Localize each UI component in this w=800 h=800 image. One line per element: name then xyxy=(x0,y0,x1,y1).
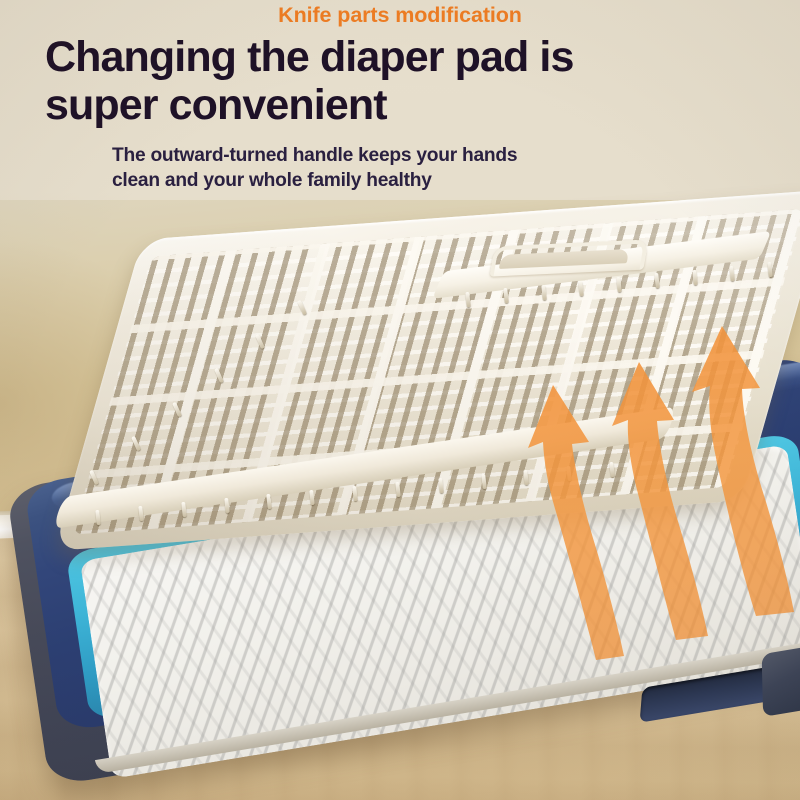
headline-line-1: Changing the diaper pad is xyxy=(45,33,573,81)
page-title: Changing the diaper pad issuper convenie… xyxy=(0,27,745,129)
product-banner: Knife parts modification Changing the di… xyxy=(0,0,800,800)
subhead-line-1: The outward-turned handle keeps your han… xyxy=(112,145,517,166)
subhead-line-2: clean and your whole family healthy xyxy=(112,168,732,193)
marketing-copy: Knife parts modification Changing the di… xyxy=(0,0,800,194)
headline-line-2: super convenient xyxy=(45,81,745,129)
eyebrow-text: Knife parts modification xyxy=(0,0,800,27)
subheadline: The outward-turned handle keeps your han… xyxy=(0,129,732,194)
